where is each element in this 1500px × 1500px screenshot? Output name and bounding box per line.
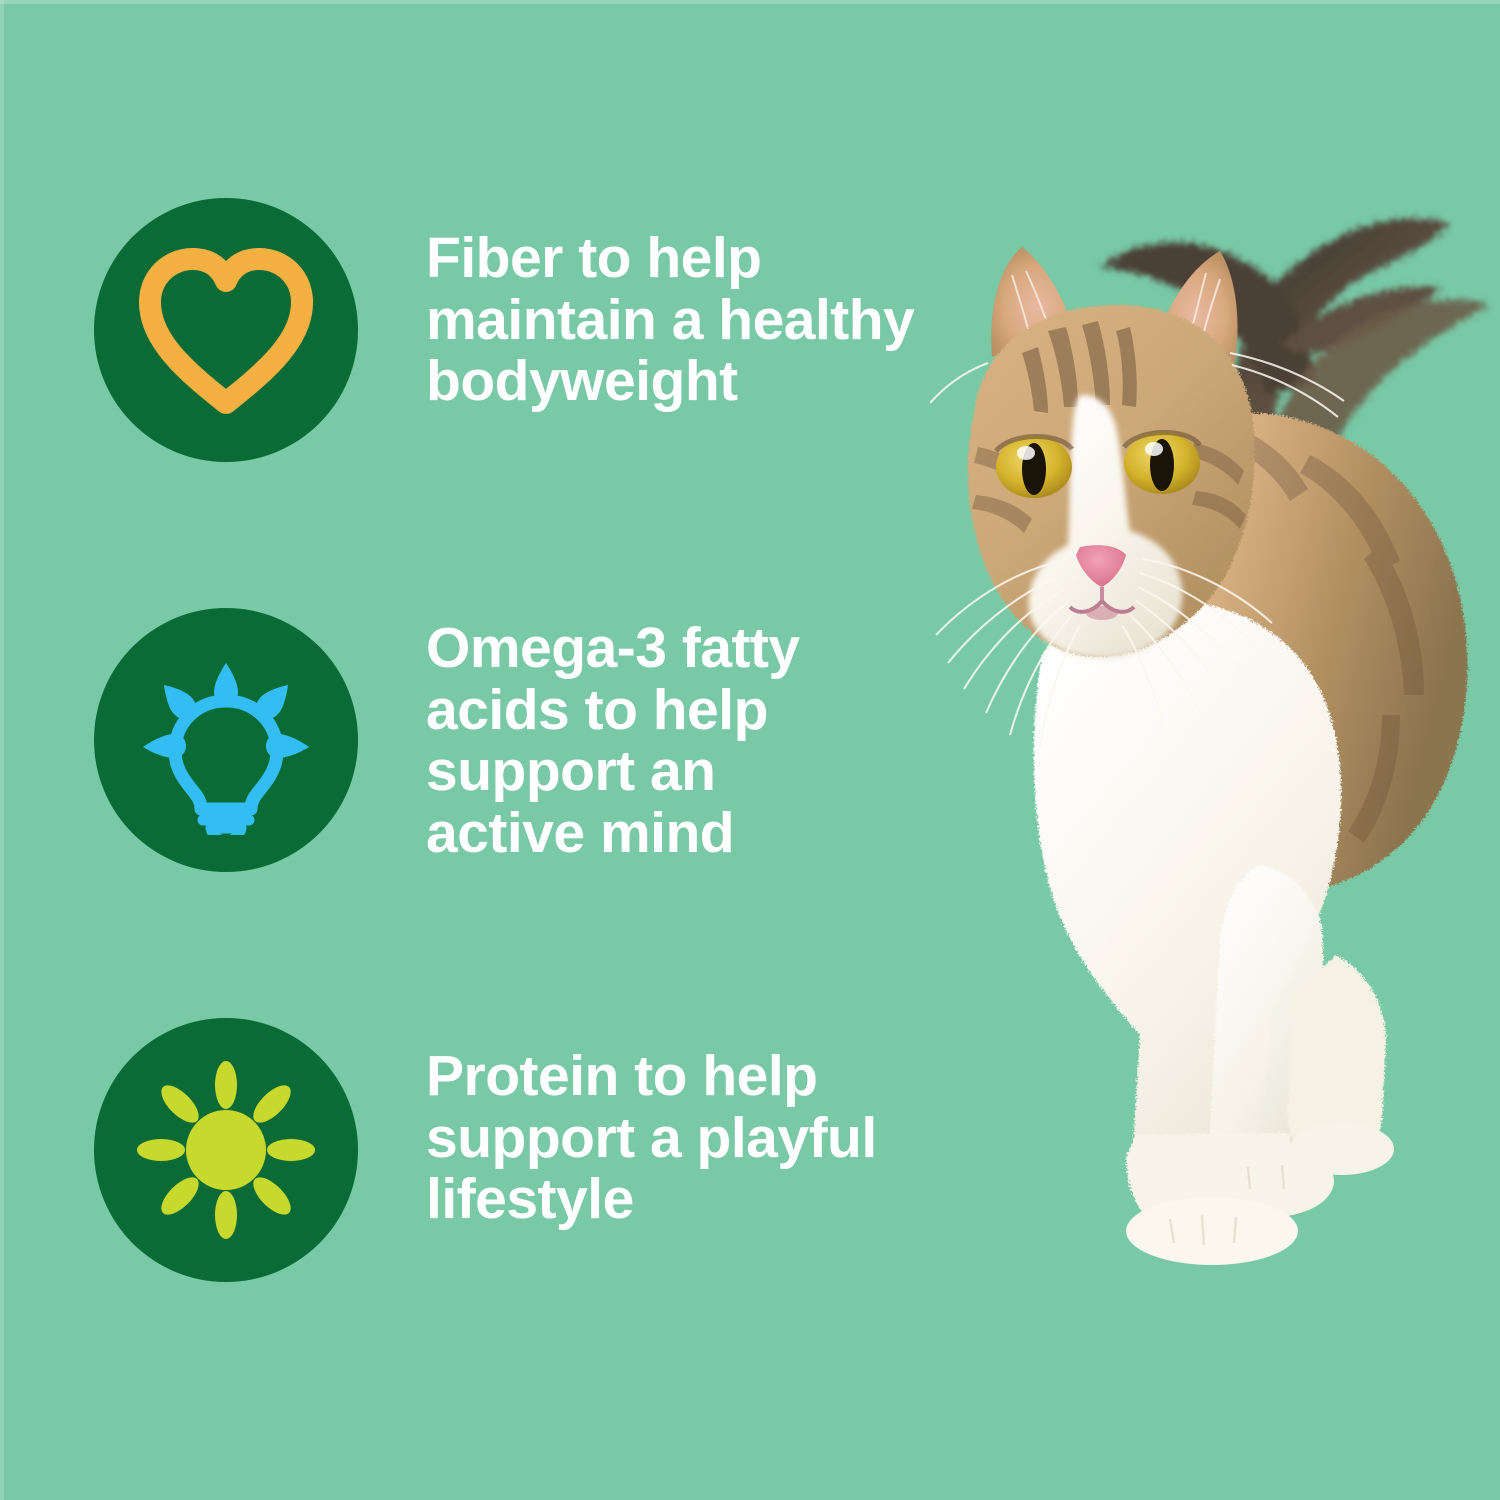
benefit-row-fiber: Fiber to help maintain a healthy bodywei… (94, 198, 986, 462)
benefit-row-omega: Omega-3 fatty acids to help support an a… (94, 608, 926, 872)
protein-benefit-text: Protein to help support a playful lifest… (426, 1044, 1006, 1231)
sun-icon (131, 1055, 321, 1245)
cat-tail (1100, 218, 1490, 515)
cat-chest-and-legs (1034, 600, 1394, 1265)
lightbulb-icon (131, 645, 321, 835)
cat-eye-left (996, 436, 1072, 498)
promo-graphic: Fiber to help maintain a healthy bodywei… (0, 0, 1500, 1500)
cat-whiskers (930, 353, 1344, 747)
omega-benefit-text: Omega-3 fatty acids to help support an a… (426, 616, 926, 864)
benefit-row-protein: Protein to help support a playful lifest… (94, 1018, 1006, 1282)
cat-head (968, 247, 1255, 659)
cat-eye-right (1124, 432, 1200, 494)
fiber-benefit-text: Fiber to help maintain a healthy bodywei… (426, 226, 986, 413)
top-edge-highlight (0, 0, 1500, 4)
protein-icon-badge (94, 1018, 358, 1282)
cat-photo (930, 95, 1500, 1335)
left-edge-highlight (0, 0, 4, 1500)
cat-body (1117, 413, 1467, 895)
fiber-icon-badge (94, 198, 358, 462)
omega-icon-badge (94, 608, 358, 872)
heart-icon (131, 235, 321, 425)
